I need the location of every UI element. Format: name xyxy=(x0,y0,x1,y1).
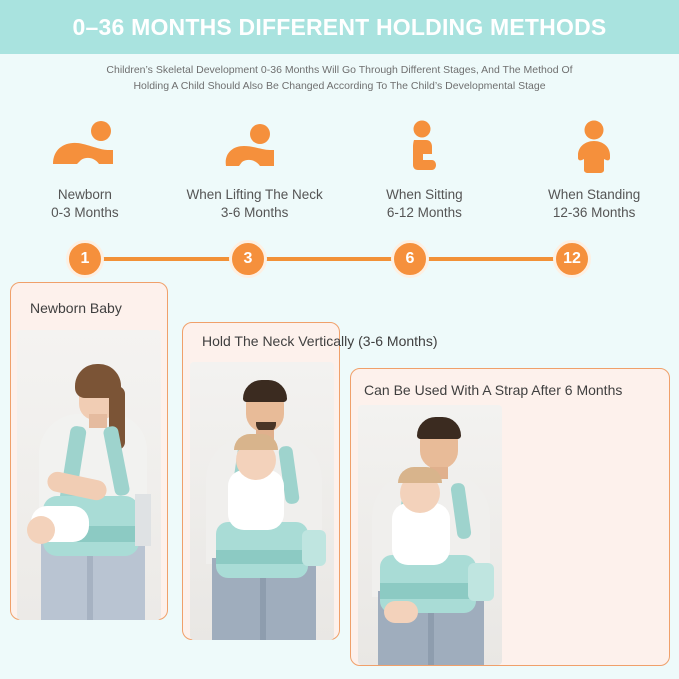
father-holding-toddler-photo xyxy=(190,362,334,640)
stage-age: 0-3 Months xyxy=(51,204,119,222)
subtitle-line-2: Holding A Child Should Also Be Changed A… xyxy=(0,78,679,94)
timeline-track xyxy=(86,257,578,261)
baby-lying-icon xyxy=(43,118,127,176)
page-subtitle: Children’s Skeletal Development 0-36 Mon… xyxy=(0,62,679,94)
card-caption-2: Hold The Neck Vertically (3-6 Months) xyxy=(202,333,438,349)
baby-standing-icon xyxy=(568,118,620,176)
stage-newborn: Newborn 0-3 Months xyxy=(0,118,170,228)
stage-label-sitting: When Sitting 6-12 Months xyxy=(386,186,463,222)
timeline-node-1[interactable]: 1 xyxy=(66,240,104,278)
stage-lifting-neck: When Lifting The Neck 3-6 Months xyxy=(170,118,340,228)
card-caption-1: Newborn Baby xyxy=(30,300,122,316)
stage-label-lifting-neck: When Lifting The Neck 3-6 Months xyxy=(186,186,322,222)
stage-standing: When Standing 12-36 Months xyxy=(509,118,679,228)
stage-title: Newborn xyxy=(51,186,119,204)
stage-label-standing: When Standing 12-36 Months xyxy=(548,186,640,222)
stage-sitting: When Sitting 6-12 Months xyxy=(340,118,510,228)
page-header: 0–36 MONTHS DIFFERENT HOLDING METHODS xyxy=(0,0,679,54)
card-caption-3: Can Be Used With A Strap After 6 Months xyxy=(364,382,622,398)
baby-head-up-icon xyxy=(218,118,292,176)
stage-title: When Lifting The Neck xyxy=(186,186,322,204)
stages-row: Newborn 0-3 Months When Lifting The Neck… xyxy=(0,118,679,228)
mother-holding-newborn-photo xyxy=(17,330,161,620)
timeline-node-3[interactable]: 3 xyxy=(229,240,267,278)
stage-title: When Sitting xyxy=(386,186,463,204)
stage-label-newborn: Newborn 0-3 Months xyxy=(51,186,119,222)
stage-title: When Standing xyxy=(548,186,640,204)
timeline: 1 3 6 12 xyxy=(0,240,679,280)
page-title: 0–36 MONTHS DIFFERENT HOLDING METHODS xyxy=(73,14,607,41)
stage-age: 6-12 Months xyxy=(386,204,463,222)
stage-age: 12-36 Months xyxy=(548,204,640,222)
stage-age: 3-6 Months xyxy=(186,204,322,222)
timeline-node-12[interactable]: 12 xyxy=(553,240,591,278)
subtitle-line-1: Children’s Skeletal Development 0-36 Mon… xyxy=(0,62,679,78)
timeline-node-6[interactable]: 6 xyxy=(391,240,429,278)
father-carrier-strap-photo xyxy=(358,405,502,665)
baby-sitting-icon xyxy=(401,118,447,176)
